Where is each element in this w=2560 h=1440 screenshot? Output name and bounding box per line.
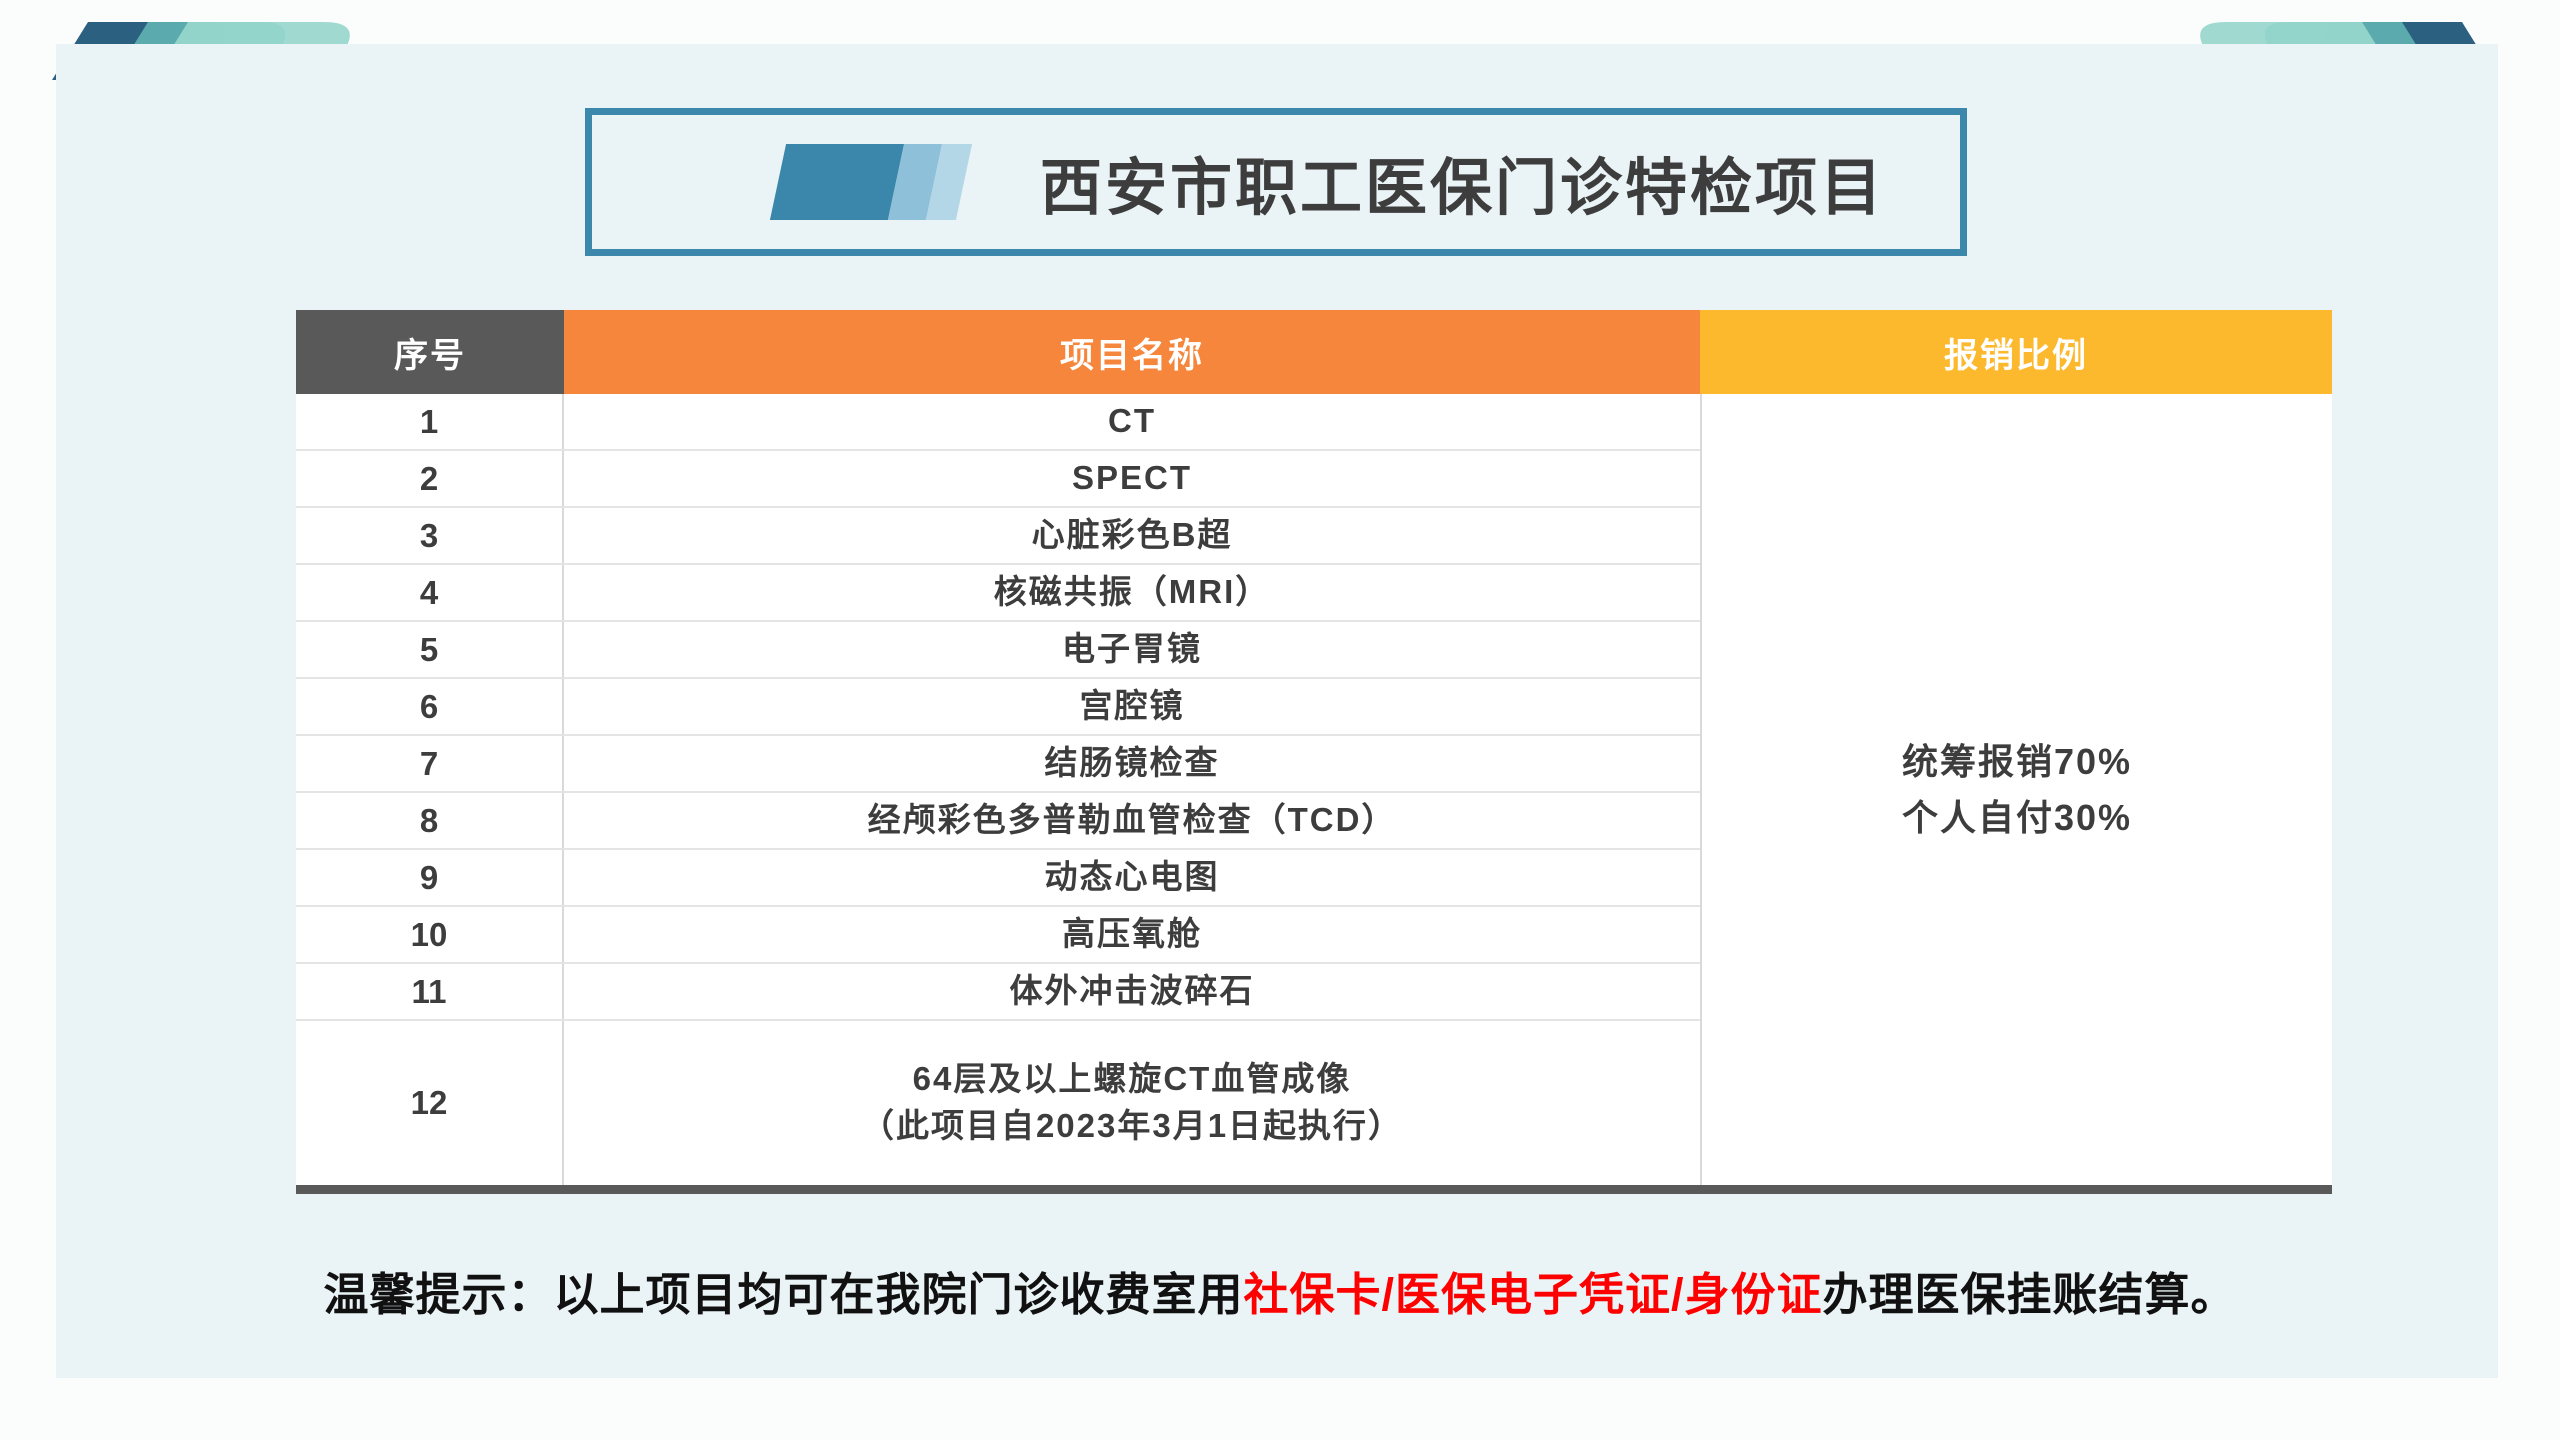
table-body: 1 CT 2 SPECT 3 心脏彩色B超 4 核磁共振（MRI） 5 <box>296 394 2332 1185</box>
cell-name: 核磁共振（MRI） <box>564 565 1700 620</box>
cell-name-line1: 体外冲击波碎石 <box>1010 968 1255 1015</box>
reimbursement-ratio-cell: 统筹报销70% 个人自付30% <box>1700 394 2332 1185</box>
cell-name-line1: 64层及以上螺旋CT血管成像 <box>913 1056 1352 1103</box>
table-row: 2 SPECT <box>296 451 1700 508</box>
cell-name-line1: 心脏彩色B超 <box>1032 512 1233 559</box>
cell-no: 4 <box>296 565 564 620</box>
ratio-line-personal: 个人自付30% <box>1902 790 2132 846</box>
cell-name-line1: 高压氧舱 <box>1062 911 1202 958</box>
cell-name: 结肠镜检查 <box>564 736 1700 791</box>
cell-name-line2: （此项目自2023年3月1日起执行） <box>861 1103 1403 1150</box>
cell-name-line1: 经颅彩色多普勒血管检查（TCD） <box>868 797 1397 844</box>
table-row: 10 高压氧舱 <box>296 907 1700 964</box>
brand-logo-icon <box>778 144 960 220</box>
page-title: 西安市职工医保门诊特检项目 <box>1040 137 1885 227</box>
table-row: 5 电子胃镜 <box>296 622 1700 679</box>
cell-name: 经颅彩色多普勒血管检查（TCD） <box>564 793 1700 848</box>
table-row: 6 宫腔镜 <box>296 679 1700 736</box>
ratio-line-pooled: 统筹报销70% <box>1902 734 2132 790</box>
cell-no: 12 <box>296 1021 564 1185</box>
footer-suffix: 办理医保挂账结算。 <box>1823 1269 2237 1320</box>
cell-name: CT <box>564 394 1700 449</box>
exam-items-table: 序号 项目名称 报销比例 1 CT 2 SPECT 3 心脏彩色B超 <box>296 310 2332 1194</box>
cell-name: 动态心电图 <box>564 850 1700 905</box>
cell-name: 高压氧舱 <box>564 907 1700 962</box>
slide-canvas: 西安市职工医保门诊特检项目 序号 项目名称 报销比例 1 CT 2 SPECT … <box>0 0 2560 1440</box>
cell-no: 1 <box>296 394 564 449</box>
cell-no: 11 <box>296 964 564 1019</box>
column-header-name: 项目名称 <box>564 310 1700 394</box>
cell-name-line1: SPECT <box>1072 455 1192 502</box>
table-rows-column: 1 CT 2 SPECT 3 心脏彩色B超 4 核磁共振（MRI） 5 <box>296 394 1700 1185</box>
cell-no: 10 <box>296 907 564 962</box>
cell-no: 7 <box>296 736 564 791</box>
cell-no: 9 <box>296 850 564 905</box>
table-row: 1 CT <box>296 394 1700 451</box>
cell-name-line1: 核磁共振（MRI） <box>994 569 1271 616</box>
cell-no: 3 <box>296 508 564 563</box>
cell-no: 6 <box>296 679 564 734</box>
cell-no: 5 <box>296 622 564 677</box>
cell-name-line1: CT <box>1108 398 1156 445</box>
table-row: 11 体外冲击波碎石 <box>296 964 1700 1021</box>
cell-name-line1: 动态心电图 <box>1045 854 1220 901</box>
table-row: 8 经颅彩色多普勒血管检查（TCD） <box>296 793 1700 850</box>
cell-name: 64层及以上螺旋CT血管成像 （此项目自2023年3月1日起执行） <box>564 1021 1700 1185</box>
cell-name: SPECT <box>564 451 1700 506</box>
footer-note: 温馨提示：以上项目均可在我院门诊收费室用社保卡/医保电子凭证/身份证办理医保挂账… <box>0 1258 2560 1323</box>
table-header-row: 序号 项目名称 报销比例 <box>296 310 2332 394</box>
table-row: 3 心脏彩色B超 <box>296 508 1700 565</box>
table-row: 12 64层及以上螺旋CT血管成像 （此项目自2023年3月1日起执行） <box>296 1021 1700 1185</box>
cell-name-line1: 结肠镜检查 <box>1045 740 1220 787</box>
cell-name: 宫腔镜 <box>564 679 1700 734</box>
table-row: 4 核磁共振（MRI） <box>296 565 1700 622</box>
table-row: 7 结肠镜检查 <box>296 736 1700 793</box>
page-title-box: 西安市职工医保门诊特检项目 <box>585 108 1967 256</box>
cell-name-line1: 电子胃镜 <box>1062 626 1202 673</box>
footer-prefix: 温馨提示：以上项目均可在我院门诊收费室用 <box>323 1269 1243 1320</box>
footer-highlight: 社保卡/医保电子凭证/身份证 <box>1243 1269 1822 1320</box>
cell-no: 2 <box>296 451 564 506</box>
cell-name: 体外冲击波碎石 <box>564 964 1700 1019</box>
column-header-ratio: 报销比例 <box>1700 310 2332 394</box>
cell-name: 电子胃镜 <box>564 622 1700 677</box>
cell-no: 8 <box>296 793 564 848</box>
column-header-no: 序号 <box>296 310 564 394</box>
cell-name-line1: 宫腔镜 <box>1080 683 1185 730</box>
cell-name: 心脏彩色B超 <box>564 508 1700 563</box>
table-row: 9 动态心电图 <box>296 850 1700 907</box>
